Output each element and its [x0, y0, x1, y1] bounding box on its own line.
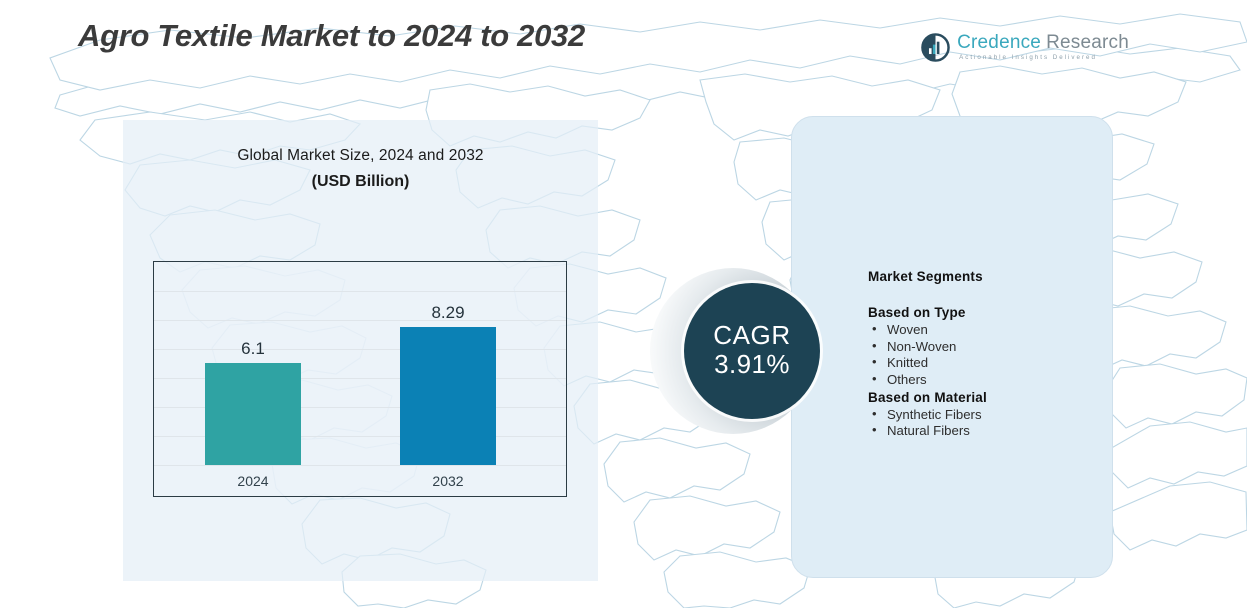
- brand-name-secondary: Research: [1046, 32, 1129, 53]
- list-item: Woven: [868, 322, 1098, 339]
- segments-title: Market Segments: [868, 269, 1098, 284]
- chart-plot-area: 6.1 8.29 2024 2032: [154, 262, 566, 496]
- bar-2024: [205, 363, 301, 465]
- brand-name-primary: Credence: [957, 32, 1041, 53]
- bar-chart: 6.1 8.29 2024 2032: [153, 261, 567, 497]
- x-axis-label-2024: 2024: [205, 473, 301, 489]
- brand-name-row: CredenceResearch: [957, 33, 1129, 52]
- list-item: Synthetic Fibers: [868, 407, 1098, 424]
- cagr-badge: CAGR 3.91%: [684, 283, 820, 419]
- infographic-page: Agro Textile Market to 2024 to 2032 Cred…: [0, 0, 1247, 608]
- cagr-value: 3.91%: [714, 350, 790, 380]
- x-axis-label-2032: 2032: [400, 473, 496, 489]
- brand-text: CredenceResearch Actionable Insights Del…: [957, 33, 1129, 61]
- chart-heading: Global Market Size, 2024 and 2032 (USD B…: [123, 147, 598, 191]
- segment-list-type: Woven Non-Woven Knitted Others: [868, 322, 1098, 389]
- bar-2032: [400, 327, 496, 465]
- list-item: Non-Woven: [868, 339, 1098, 356]
- segment-list-material: Synthetic Fibers Natural Fibers: [868, 407, 1098, 440]
- chart-heading-line1: Global Market Size, 2024 and 2032: [123, 147, 598, 165]
- segment-group-title-material: Based on Material: [868, 390, 1098, 405]
- gridline: [154, 291, 566, 292]
- segment-group-title-type: Based on Type: [868, 305, 1098, 320]
- bar-value-2032: 8.29: [400, 303, 496, 323]
- cagr-label: CAGR: [713, 322, 791, 349]
- list-item: Knitted: [868, 355, 1098, 372]
- page-title: Agro Textile Market to 2024 to 2032: [78, 18, 585, 54]
- chart-heading-line2: (USD Billion): [123, 173, 598, 191]
- market-segments: Market Segments Based on Type Woven Non-…: [868, 269, 1098, 440]
- list-item: Others: [868, 372, 1098, 389]
- bar-value-2024: 6.1: [205, 339, 301, 359]
- gridline: [154, 320, 566, 321]
- list-item: Natural Fibers: [868, 423, 1098, 440]
- brand-logo: CredenceResearch Actionable Insights Del…: [921, 33, 1129, 62]
- brand-tagline: Actionable Insights Delivered: [959, 55, 1129, 61]
- bar-chart-circle-icon: [921, 33, 950, 62]
- gridline: [154, 465, 566, 466]
